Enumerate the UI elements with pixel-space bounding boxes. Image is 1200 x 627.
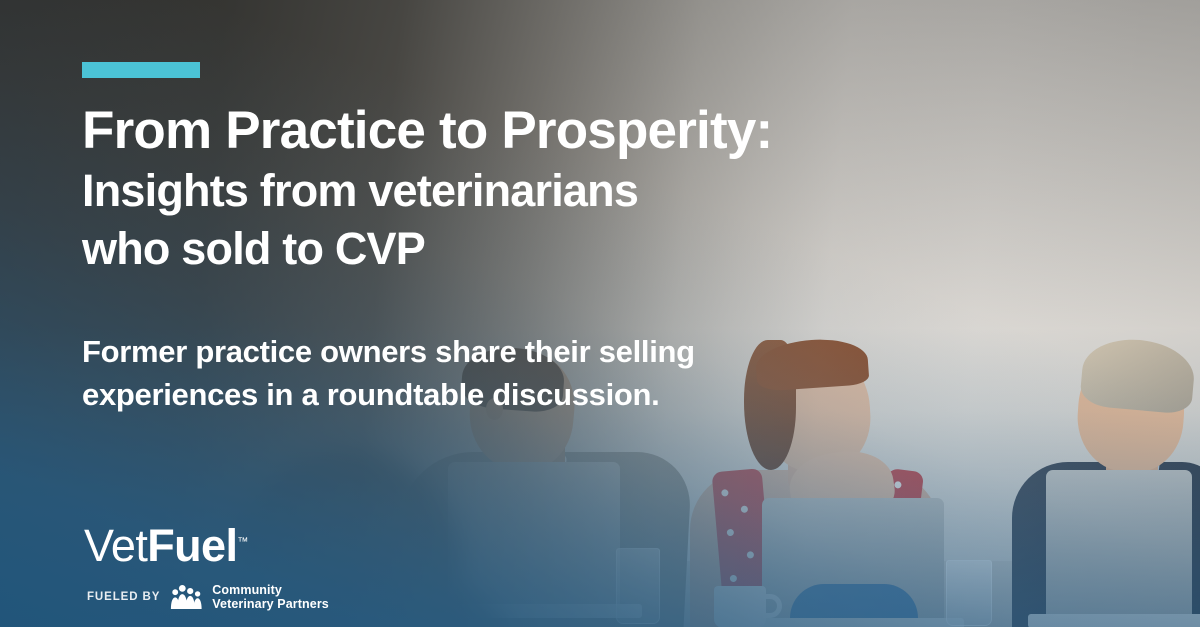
trademark-symbol: ™ bbox=[237, 536, 247, 548]
page-title: From Practice to Prosperity: Insights fr… bbox=[82, 100, 1082, 278]
partner-name-line-2: Veterinary Partners bbox=[212, 597, 329, 611]
title-line-1: From Practice to Prosperity: bbox=[82, 100, 1082, 162]
people-group-icon bbox=[169, 584, 203, 610]
banner-content: From Practice to Prosperity: Insights fr… bbox=[0, 0, 1200, 627]
subtitle: Former practice owners share their selli… bbox=[82, 330, 762, 416]
title-line-2: Insights from veterinarians bbox=[82, 162, 1082, 220]
fueled-by-label: FUELED BY bbox=[87, 591, 160, 603]
vetfuel-vet-text: Vet bbox=[84, 520, 147, 571]
accent-bar bbox=[82, 62, 200, 78]
partner-name-line-1: Community bbox=[212, 583, 282, 597]
title-line-3: who sold to CVP bbox=[82, 220, 1082, 278]
vetfuel-fuel-text: Fuel bbox=[147, 520, 237, 571]
promo-banner: From Practice to Prosperity: Insights fr… bbox=[0, 0, 1200, 627]
partner-name: Community Veterinary Partners bbox=[212, 583, 329, 611]
fueled-by-row: FUELED BY Community Veterinary Partners bbox=[87, 583, 329, 611]
vetfuel-wordmark: VetFuel™ bbox=[84, 518, 329, 570]
brand-logo-lockup: VetFuel™ FUELED BY Community Veterinary … bbox=[84, 518, 329, 611]
